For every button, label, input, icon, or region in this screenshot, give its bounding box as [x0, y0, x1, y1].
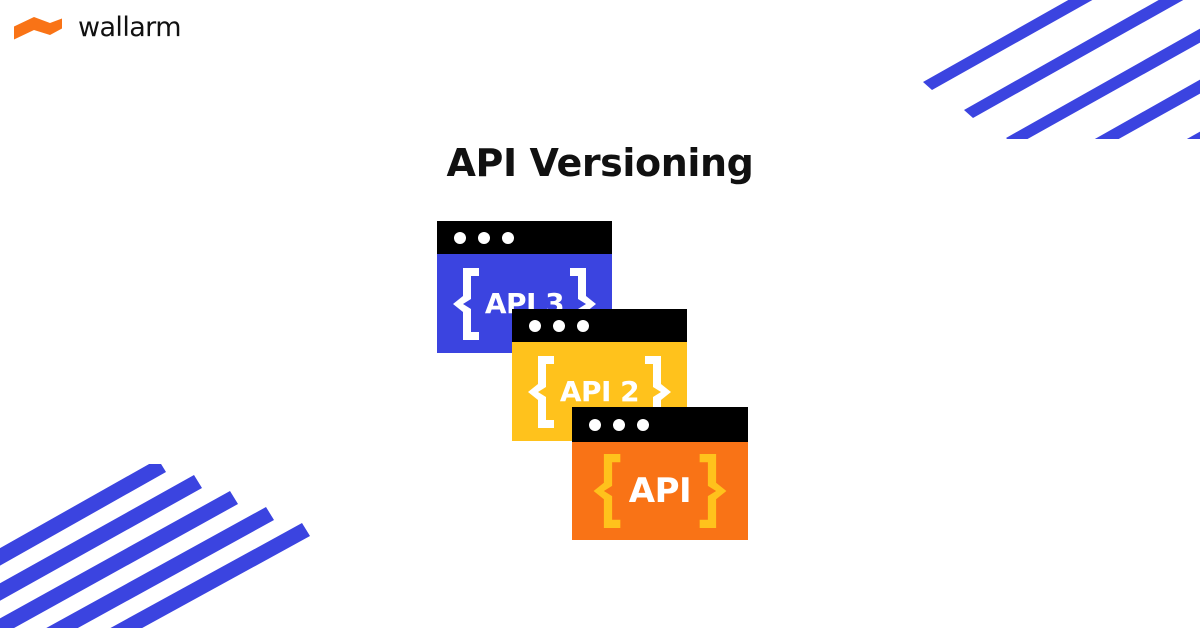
poster-canvas: wallarm API Versioning API 3 [0, 0, 1200, 628]
window-body: API [572, 442, 748, 540]
api-version-label: API 2 [560, 378, 639, 406]
curly-brace-left-icon [453, 268, 481, 340]
window-dot-icon [637, 419, 649, 431]
api-window-api1[interactable]: API [572, 407, 748, 540]
api-version-label: API [629, 474, 691, 508]
curly-brace-left-icon [528, 356, 556, 428]
window-dot-icon [613, 419, 625, 431]
window-dot-icon [589, 419, 601, 431]
window-dots [529, 320, 589, 332]
api-version-stack: API 3 API 2 [0, 0, 1200, 628]
window-dot-icon [529, 320, 541, 332]
curly-brace-left-icon [593, 454, 623, 528]
window-dots [454, 232, 514, 244]
window-dots [589, 419, 649, 431]
window-dot-icon [553, 320, 565, 332]
window-dot-icon [454, 232, 466, 244]
window-dot-icon [478, 232, 490, 244]
window-titlebar [512, 309, 687, 342]
curly-brace-right-icon [697, 454, 727, 528]
window-dot-icon [502, 232, 514, 244]
window-titlebar [572, 407, 748, 442]
window-titlebar [437, 221, 612, 254]
window-dot-icon [577, 320, 589, 332]
